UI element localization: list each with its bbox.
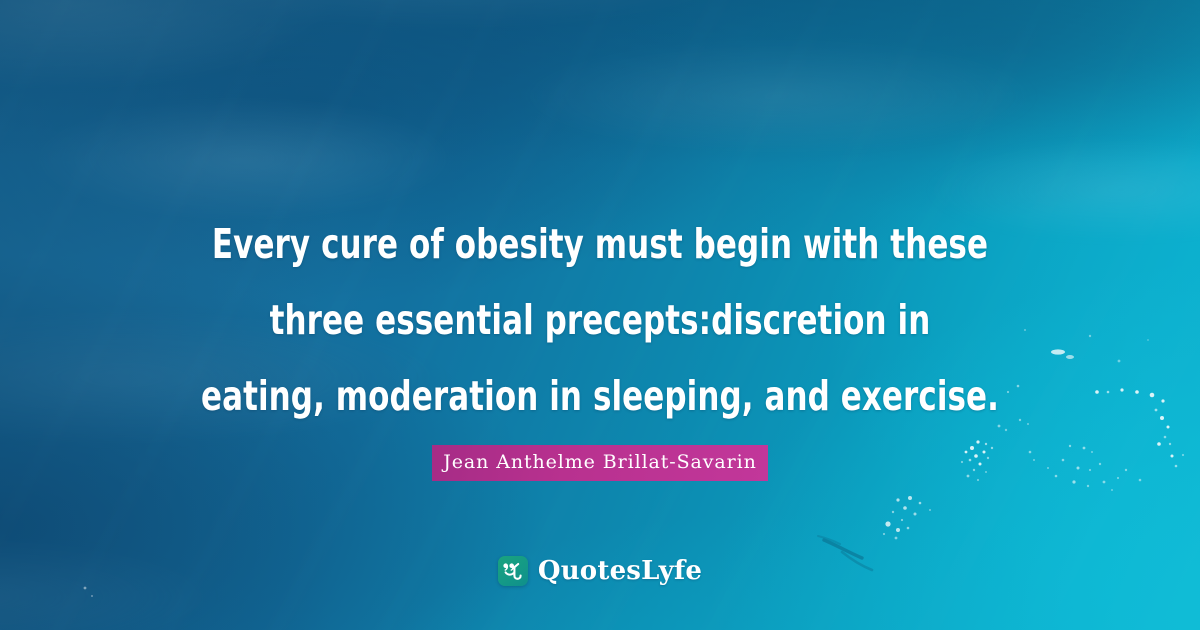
author-name: Jean Anthelme Brillat-Savarin xyxy=(432,445,767,481)
quote-block: Every cure of obesity must begin with th… xyxy=(0,206,1200,434)
quote-card: Every cure of obesity must begin with th… xyxy=(0,0,1200,630)
brand-name: QuotesLyfe xyxy=(538,558,702,584)
brand-logo-lockup[interactable]: QuotesLyfe xyxy=(0,556,1200,586)
author-block: Jean Anthelme Brillat-Savarin xyxy=(0,445,1200,481)
card-content: Every cure of obesity must begin with th… xyxy=(0,0,1200,630)
quotes-lyfe-logo-icon xyxy=(498,556,528,586)
quote-text: Every cure of obesity must begin with th… xyxy=(188,206,1011,434)
